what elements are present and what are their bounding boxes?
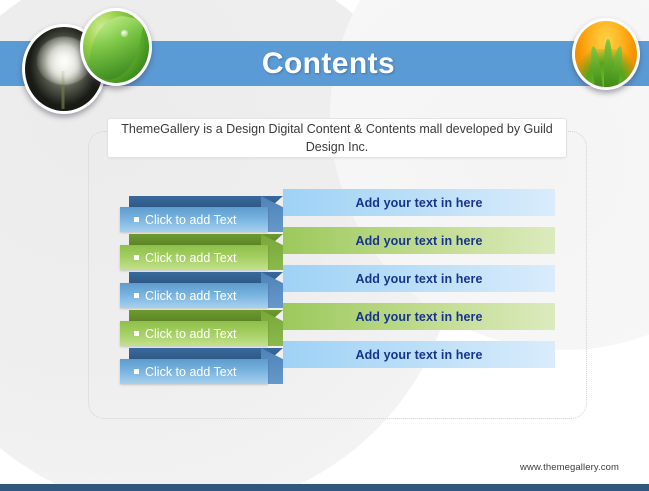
description-text: ThemeGallery is a Design Digital Content… xyxy=(118,120,556,156)
row-bar-label: Add your text in here xyxy=(355,272,482,286)
chevron-top-face xyxy=(129,272,283,283)
row-bar-label: Add your text in here xyxy=(355,348,482,362)
leaf-blade xyxy=(86,11,145,85)
chevron-top-quad xyxy=(129,234,283,245)
row-text-bar[interactable]: Add your text in here xyxy=(283,303,555,330)
chevron-front-face: Click to add Text xyxy=(120,359,268,384)
chevron-top-face xyxy=(129,310,283,321)
footer-bar xyxy=(0,484,649,491)
chevron-top-quad xyxy=(129,272,283,283)
content-row: Add your text in hereClick to add Text xyxy=(0,341,649,387)
square-bullet-icon xyxy=(134,293,139,298)
row-bar-label: Add your text in here xyxy=(355,234,482,248)
description-textbox[interactable]: ThemeGallery is a Design Digital Content… xyxy=(107,118,567,158)
chevron-top-quad xyxy=(129,310,283,321)
row-bar-label: Add your text in here xyxy=(355,196,482,210)
square-bullet-icon xyxy=(134,331,139,336)
chevron-top-face xyxy=(129,196,283,207)
square-bullet-icon xyxy=(134,217,139,222)
square-bullet-icon xyxy=(134,369,139,374)
row-chevron-block[interactable]: Click to add Text xyxy=(120,348,283,384)
row-text-bar[interactable]: Add your text in here xyxy=(283,265,555,292)
chevron-top-quad xyxy=(129,348,283,359)
footer-url: www.themegallery.com xyxy=(520,462,619,473)
chevron-top-face xyxy=(129,348,283,359)
chevron-label: Click to add Text xyxy=(145,365,236,379)
dew-drop-icon xyxy=(121,30,128,37)
tulip-photo xyxy=(572,18,640,90)
row-bar-label: Add your text in here xyxy=(355,310,482,324)
row-text-bar[interactable]: Add your text in here xyxy=(283,189,555,216)
leaf-photo xyxy=(80,8,152,86)
row-text-bar[interactable]: Add your text in here xyxy=(283,341,555,368)
chevron-top-face xyxy=(129,234,283,245)
chevron-top-quad xyxy=(129,196,283,207)
square-bullet-icon xyxy=(134,255,139,260)
chevron-label: Click to add Text xyxy=(145,289,236,303)
chevron-label: Click to add Text xyxy=(145,251,236,265)
chevron-label: Click to add Text xyxy=(145,213,236,227)
row-text-bar[interactable]: Add your text in here xyxy=(283,227,555,254)
slide-canvas: Contents ThemeGallery is a Design Digita… xyxy=(0,0,649,491)
chevron-label: Click to add Text xyxy=(145,327,236,341)
